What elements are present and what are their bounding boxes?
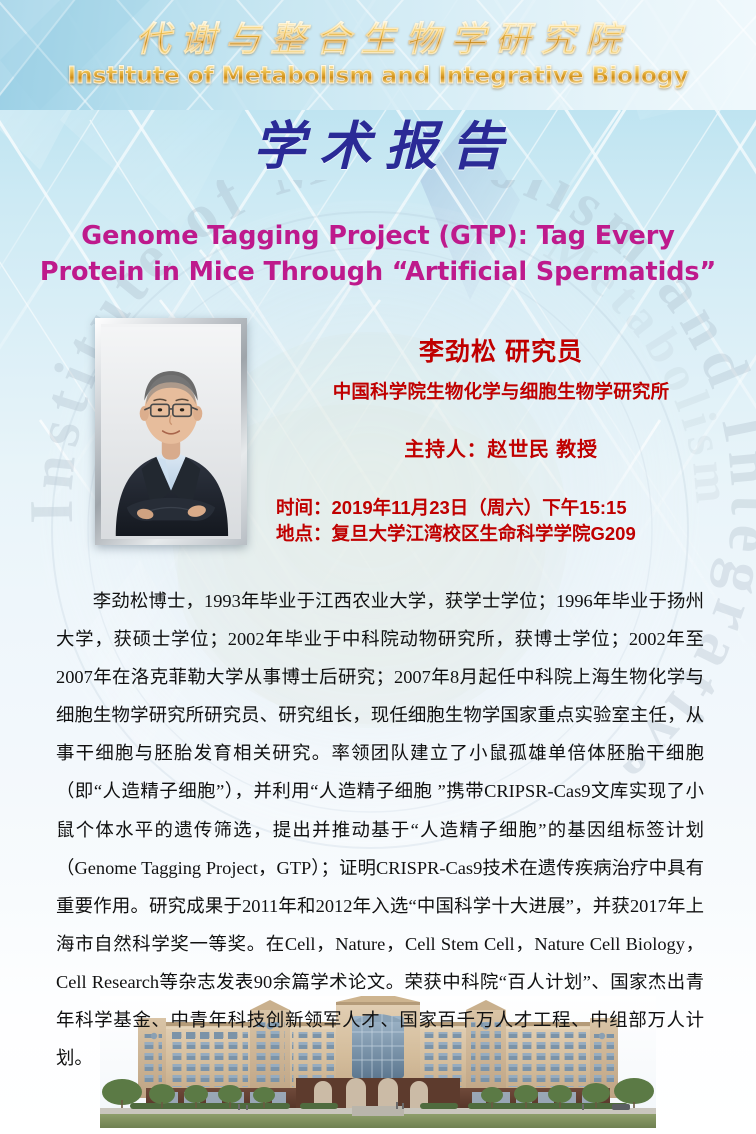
- speaker-biography: 李劲松博士，1993年毕业于江西农业大学，获学士学位；1996年毕业于扬州大学，…: [56, 582, 704, 1077]
- report-heading: 学术报告: [0, 118, 756, 178]
- poster-header: 代谢与整合生物学研究院 Institute of Metabolism and …: [0, 0, 756, 110]
- speaker-affiliation: 中国科学院生物化学与细胞生物学研究所: [262, 380, 740, 404]
- seminar-poster: Institute of Metabolism and Integrative …: [0, 0, 756, 1134]
- institute-name-chinese: 代谢与整合生物学研究院: [125, 21, 630, 60]
- speaker-name: 李劲松 研究员: [262, 336, 740, 369]
- seminar-time: 时间：2019年11月23日（周六）下午15:15: [276, 495, 740, 521]
- institute-name-english: Institute of Metabolism and Integrative …: [67, 62, 688, 89]
- talk-title: Genome Tagging Project (GTP): Tag Every …: [28, 218, 728, 290]
- speaker-photo: [101, 324, 241, 539]
- speaker-info: 李劲松 研究员 中国科学院生物化学与细胞生物学研究所 主持人：赵世民 教授 时间…: [262, 336, 740, 547]
- seminar-meta: 时间：2019年11月23日（周六）下午15:15 地点：复旦大学江湾校区生命科…: [262, 495, 740, 548]
- speaker-photo-frame: [95, 318, 247, 545]
- seminar-host: 主持人：赵世民 教授: [262, 437, 740, 463]
- seminar-location: 地点：复旦大学江湾校区生命科学学院G209: [276, 521, 740, 547]
